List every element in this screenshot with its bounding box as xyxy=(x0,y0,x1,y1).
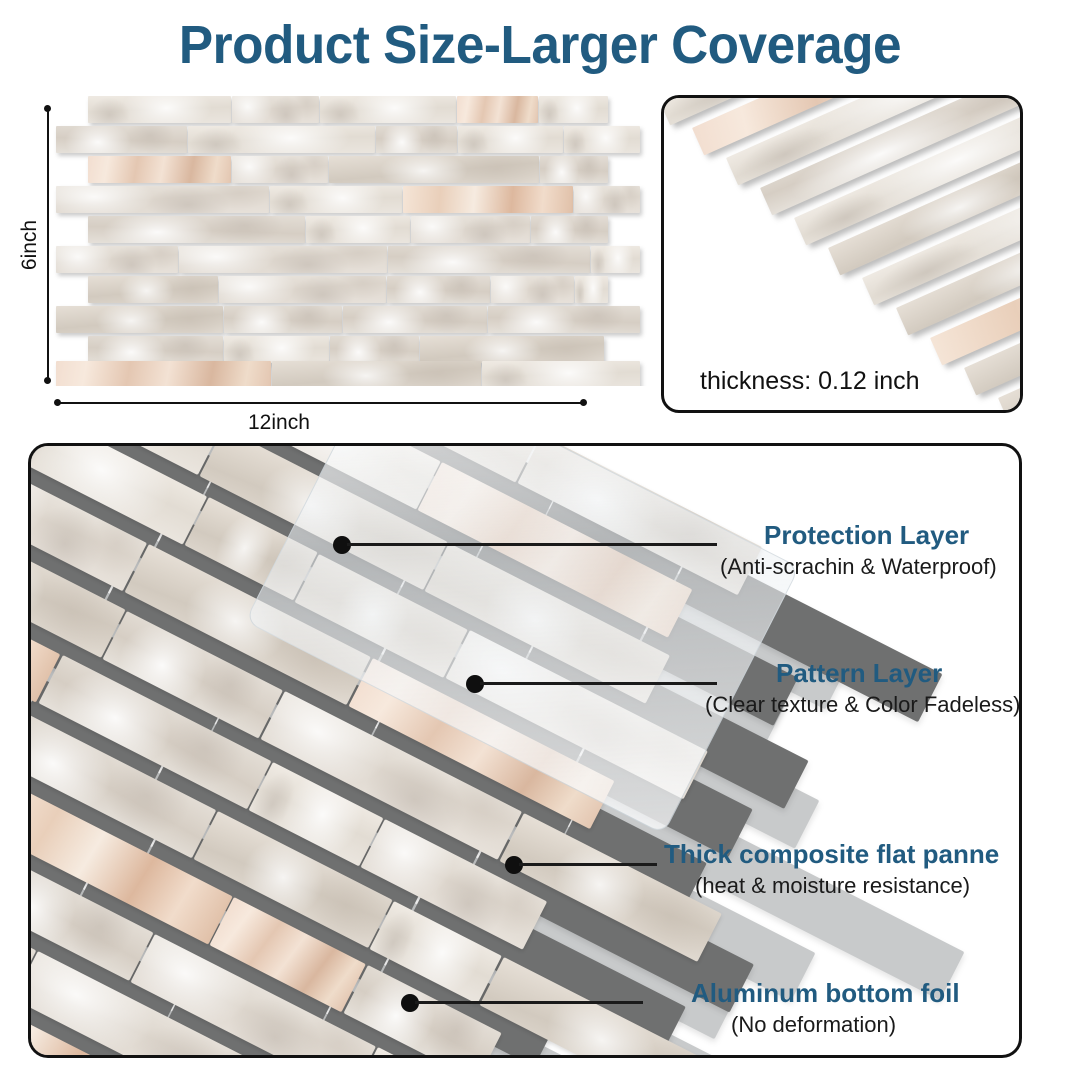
thickness-label: thickness: 0.12 inch xyxy=(700,367,920,396)
tile-strip xyxy=(88,216,305,243)
infographic-page: Product Size-Larger Coverage 6inch 12inc… xyxy=(0,0,1080,1080)
product-size-illustration xyxy=(48,96,648,386)
tile-strip xyxy=(539,96,608,123)
tile-strip xyxy=(88,276,218,303)
tile-strip xyxy=(329,156,539,183)
tile-strip xyxy=(88,156,231,183)
tile-strip xyxy=(411,216,530,243)
tile-strip xyxy=(343,306,487,333)
tile-strip xyxy=(574,186,640,213)
callout-subtitle: (Anti-scrachin & Waterproof) xyxy=(720,554,997,580)
tile-strip xyxy=(56,126,187,153)
dimension-endpoint-dot xyxy=(580,399,587,406)
tile-strip xyxy=(575,276,608,303)
tile-strip xyxy=(491,276,574,303)
tile-strip xyxy=(403,186,573,213)
tile-strip xyxy=(420,336,604,363)
tile-strip xyxy=(564,126,640,153)
height-dimension-line xyxy=(47,108,49,380)
tile-strip xyxy=(458,126,563,153)
tile-strip xyxy=(330,336,419,363)
tile-strip xyxy=(56,246,178,273)
tile-strip xyxy=(387,276,490,303)
callout-title: Pattern Layer xyxy=(776,658,942,689)
tile-strip xyxy=(591,246,640,273)
tile-strip xyxy=(232,96,319,123)
callout-leader-line xyxy=(347,543,717,546)
callout-leader-line xyxy=(519,863,657,866)
tile-strip xyxy=(488,306,640,333)
callout-title: Protection Layer xyxy=(764,520,969,551)
tile-strip xyxy=(457,96,538,123)
tile-strip xyxy=(272,361,481,386)
tile-strip xyxy=(531,216,608,243)
tile-strip xyxy=(56,306,223,333)
tile-strip xyxy=(224,306,342,333)
callout-subtitle: (No deformation) xyxy=(731,1012,896,1038)
dimension-endpoint-dot xyxy=(44,377,51,384)
tile-strip xyxy=(88,336,223,363)
tile-strip xyxy=(224,336,329,363)
tile-strip xyxy=(320,96,456,123)
page-title: Product Size-Larger Coverage xyxy=(27,14,1053,76)
thickness-tile-perspective-image xyxy=(664,98,1020,410)
tile-strip xyxy=(270,186,402,213)
tile-strip xyxy=(219,276,386,303)
callout-leader-line xyxy=(480,682,717,685)
tile-strip xyxy=(56,361,271,386)
callout-subtitle: (heat & moisture resistance) xyxy=(695,873,970,899)
tile-strip xyxy=(388,246,590,273)
tile-strip xyxy=(188,126,375,153)
width-dimension-line xyxy=(57,402,582,404)
tile-strip xyxy=(306,216,410,243)
width-dimension-label: 12inch xyxy=(248,411,310,435)
tile-strip xyxy=(482,361,640,386)
callout-subtitle: (Clear texture & Color Fadeless) xyxy=(705,692,1020,718)
tile-strip xyxy=(56,186,269,213)
tile-strip xyxy=(179,246,387,273)
callout-title: Thick composite flat panne xyxy=(664,839,999,870)
thickness-callout-box: thickness: 0.12 inch xyxy=(661,95,1023,413)
tile-strip xyxy=(232,156,328,183)
tile-sheet-image xyxy=(48,96,648,386)
callout-leader-line xyxy=(415,1001,643,1004)
tile-strip xyxy=(540,156,608,183)
callout-title: Aluminum bottom foil xyxy=(691,978,960,1009)
height-dimension-label: 6inch xyxy=(18,206,42,284)
tile-strip xyxy=(88,96,231,123)
tile-strip xyxy=(376,126,457,153)
layer-structure-panel: Protection Layer (Anti-scrachin & Waterp… xyxy=(28,443,1022,1058)
